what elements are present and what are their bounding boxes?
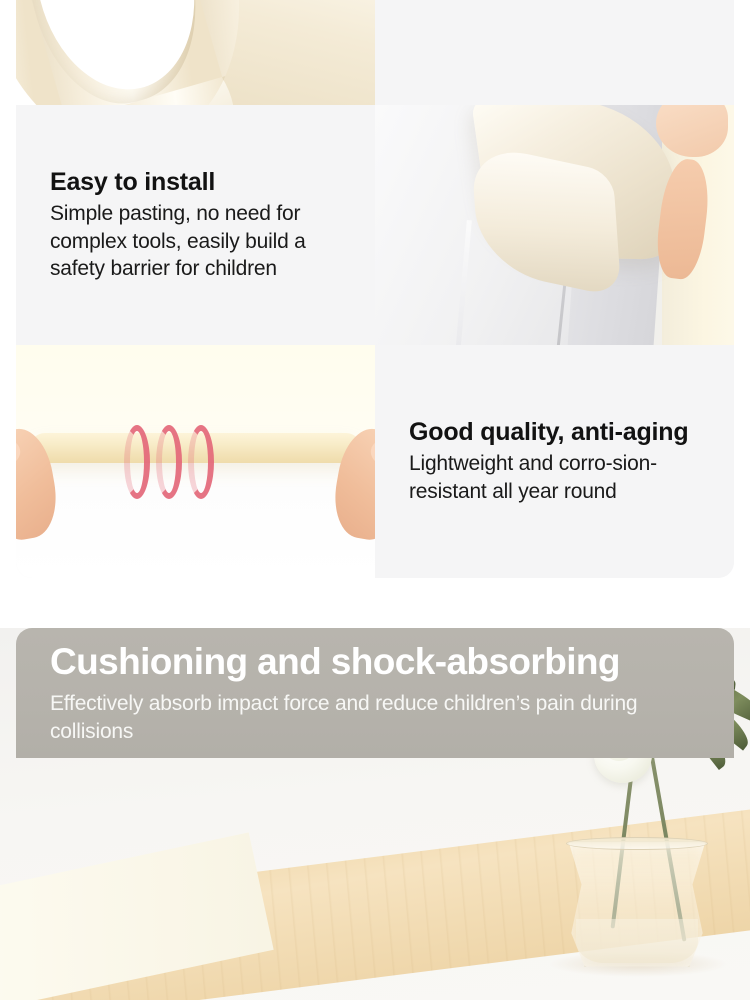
feature-row-good-quality: Good quality, anti-aging Lightweight and…	[16, 345, 734, 578]
vase-rim	[566, 837, 708, 850]
feature-grid: Good flexibility, strong stretchability,…	[16, 0, 734, 578]
banner-title: Cushioning and shock-absorbing	[50, 642, 620, 683]
glass-vase-with-flowers	[556, 819, 716, 971]
banner-subtitle: Effectively absorb impact force and redu…	[50, 690, 716, 745]
motion-ring-icon	[188, 425, 214, 499]
vase-water	[576, 919, 698, 963]
knuckle-icon	[16, 437, 22, 468]
feature-text-easy-install: Easy to install Simple pasting, no need …	[16, 105, 375, 345]
feature-title-good-quality: Good quality, anti-aging	[409, 418, 708, 448]
feature-image-good-quality	[16, 345, 375, 578]
feature-body-easy-install: Simple pasting, no need for complex tool…	[50, 200, 349, 282]
motion-ring-icon	[156, 425, 182, 499]
feature-row-easy-install: Easy to install Simple pasting, no need …	[16, 105, 734, 345]
feature-body-good-quality: Lightweight and corro-sion-resistant all…	[409, 450, 708, 505]
feature-text-good-quality: Good quality, anti-aging Lightweight and…	[375, 345, 734, 578]
motion-ring-icon	[124, 425, 150, 499]
feature-image-easy-install	[375, 105, 734, 345]
feature-text-flexibility: Good flexibility, strong stretchability,…	[375, 0, 734, 105]
feature-row-flexibility: Good flexibility, strong stretchability,…	[16, 0, 734, 105]
feature-title-easy-install: Easy to install	[50, 168, 349, 198]
feature-image-flexibility	[16, 0, 375, 105]
cushioning-banner: Cushioning and shock-absorbing Effective…	[16, 628, 734, 758]
